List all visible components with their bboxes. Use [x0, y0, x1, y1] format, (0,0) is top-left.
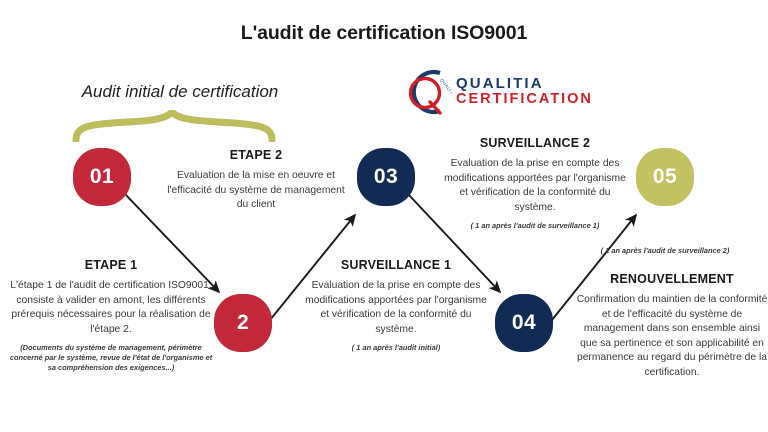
etape1-body: L'étape 1 de l'audit de certification IS…: [6, 279, 216, 337]
page-title: L'audit de certification ISO9001: [0, 22, 768, 45]
surveillance2-note: ( 1 an après l'audit de surveillance 1): [442, 221, 628, 231]
node-05[interactable]: 05: [636, 148, 694, 206]
surveillance2-heading: SURVEILLANCE 2: [442, 136, 628, 150]
curly-brace-icon: [72, 110, 278, 142]
step-block-renouvellement: RENOUVELLEMENT Confirmation du maintien …: [576, 272, 768, 381]
node-02[interactable]: 2: [214, 294, 272, 352]
logo-line-certification: CERTIFICATION: [456, 92, 593, 108]
surveillance1-body: Evaluation de la prise en compte des mod…: [303, 279, 489, 337]
etape1-heading: ETAPE 1: [6, 258, 216, 272]
infographic-canvas: L'audit de certification ISO9001 Audit i…: [0, 0, 768, 432]
logo-line-qualitia: QUALITIA: [456, 76, 593, 92]
surveillance1-heading: SURVEILLANCE 1: [303, 258, 489, 272]
renouvellement-note: ( 1 an après l'audit de surveillance 2): [600, 246, 730, 256]
step-block-surveillance1: SURVEILLANCE 1 Evaluation de la prise en…: [303, 258, 489, 353]
qualitia-logo: QUALITIA QUALITIA CERTIFICATION: [400, 66, 593, 118]
brace-caption: Audit initial de certification: [55, 82, 305, 102]
svg-text:QUALITIA: QUALITIA: [439, 78, 452, 100]
surveillance1-note: ( 1 an après l'audit initial): [303, 343, 489, 353]
etape2-heading: ETAPE 2: [166, 148, 346, 162]
etape2-body: Evaluation de la mise en oeuvre et l'eff…: [166, 169, 346, 213]
etape1-note: (Documents du système de management, pér…: [6, 343, 216, 373]
renouvellement-body: Confirmation du maintien de la conformit…: [576, 293, 768, 381]
step-block-etape1: ETAPE 1 L'étape 1 de l'audit de certific…: [6, 258, 216, 373]
node-04[interactable]: 04: [495, 294, 553, 352]
node-01[interactable]: 01: [73, 148, 131, 206]
surveillance2-body: Evaluation de la prise en compte des mod…: [442, 157, 628, 215]
node-03[interactable]: 03: [357, 148, 415, 206]
renouvellement-heading: RENOUVELLEMENT: [576, 272, 768, 286]
step-block-surveillance2: SURVEILLANCE 2 Evaluation de la prise en…: [442, 136, 628, 231]
qualitia-q-mark-icon: QUALITIA: [400, 66, 452, 118]
step-block-etape2: ETAPE 2 Evaluation de la mise en oeuvre …: [166, 148, 346, 213]
